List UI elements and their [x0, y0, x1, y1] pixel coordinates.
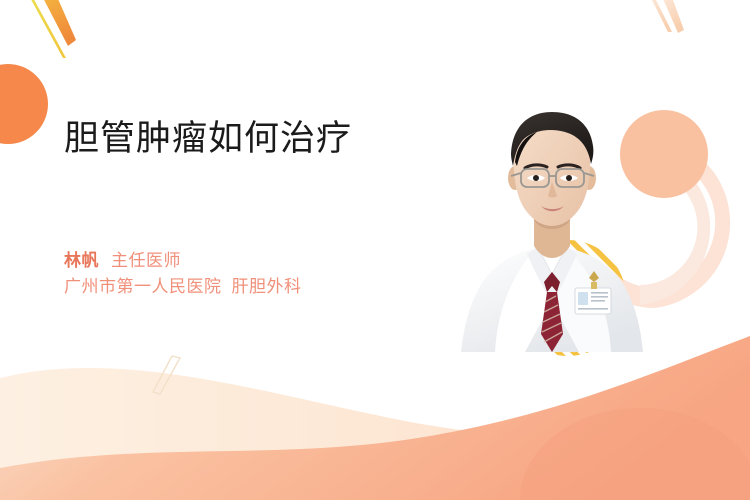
- doctor-portrait: [455, 96, 650, 352]
- page-title: 胆管肿瘤如何治疗: [64, 118, 464, 159]
- doctor-name-line: 林帆主任医师: [64, 248, 302, 274]
- doctor-info-card: 胆管肿瘤如何治疗 林帆主任医师 广州市第一人民医院肝胆外科: [0, 0, 750, 500]
- doctor-hospital: 广州市第一人民医院: [64, 277, 222, 296]
- doctor-department: 肝胆外科: [232, 277, 302, 296]
- doctor-rank: 主任医师: [111, 251, 181, 270]
- doctor-name: 林帆: [64, 251, 99, 270]
- doctor-affiliation-line: 广州市第一人民医院肝胆外科: [64, 274, 302, 300]
- doctor-credit-block: 林帆主任医师 广州市第一人民医院肝胆外科: [64, 248, 302, 301]
- title-block: 胆管肿瘤如何治疗: [64, 118, 464, 159]
